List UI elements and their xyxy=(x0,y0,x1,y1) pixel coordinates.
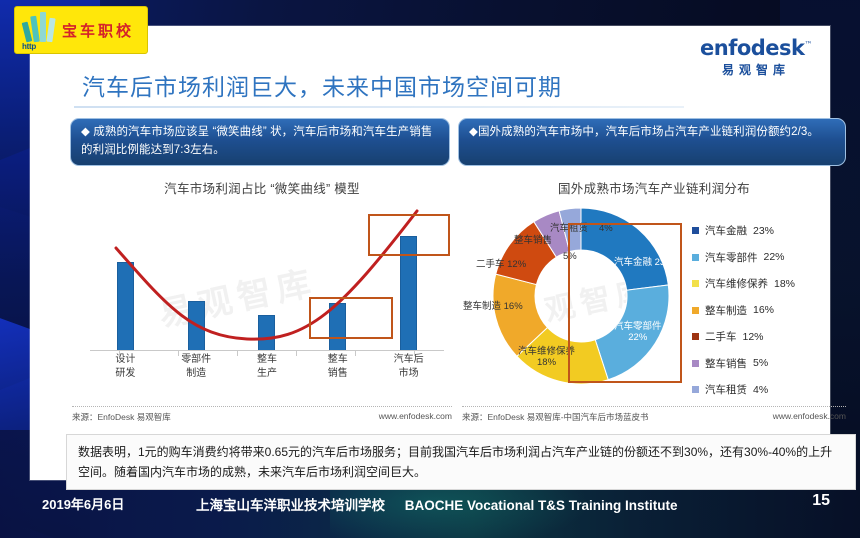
left-chart-title: 汽车市场利润占比 “微笑曲线” 模型 xyxy=(72,178,452,197)
card-accent-bar xyxy=(30,26,36,480)
right-chart-panel: 国外成熟市场汽车产业链利润分布 易观智库 汽车金融 23% 汽车零部件 22% … xyxy=(462,178,846,391)
footer-school-cn: 上海宝山车洋职业技术培训学校 xyxy=(196,498,385,513)
donut-highlight-box xyxy=(568,223,682,383)
legend-swatch-icon xyxy=(692,227,699,234)
callout-right: ◆国外成熟的汽车市场中，汽车后市场占汽车产业链利润份额约2/3。 xyxy=(458,118,846,166)
legend-value: 18% xyxy=(774,278,795,290)
smile-curve-bar-chart: 易观智库 设计研发零部件制造整车生产整车销售汽车后市场 xyxy=(72,201,452,387)
legend-value: 4% xyxy=(753,384,768,396)
bar-1 xyxy=(188,301,205,351)
footer-date: 2019年6月6日 xyxy=(42,494,124,513)
legend-label: 汽车零部件 xyxy=(705,250,758,265)
bar-label-0: 设计研发 xyxy=(97,353,153,380)
legend-swatch-icon xyxy=(692,333,699,340)
enfodesk-name: enfodesk xyxy=(700,36,805,60)
left-chart-source: 来源：EnfoDesk 易观智库 www.enfodesk.com xyxy=(72,406,452,423)
legend-item-2[interactable]: 汽车维修保养18% xyxy=(692,276,842,291)
right-chart-source: 来源：EnfoDesk 易观智库-中国汽车后市场蓝皮书 www.enfodesk… xyxy=(462,406,846,423)
school-logo-text: 宝车职校 xyxy=(62,20,134,41)
legend-swatch-icon xyxy=(692,360,699,367)
left-source-label: 来源：EnfoDesk 易观智库 xyxy=(72,411,171,423)
legend-item-6[interactable]: 汽车租赁4% xyxy=(692,382,842,397)
logo-url-text: http xyxy=(22,42,36,51)
slide-root: enfodesk™ 易观智库 汽车后市场利润巨大，未来中国市场空间可期 ◆ 成熟… xyxy=(0,0,860,538)
legend-item-0[interactable]: 汽车金融23% xyxy=(692,223,842,238)
legend-label: 汽车租赁 xyxy=(705,382,747,397)
footer-page-number: 15 xyxy=(812,492,830,510)
callout-left: ◆ 成熟的汽车市场应该呈 “微笑曲线” 状，汽车后市场和汽车生产销售的利润比例能… xyxy=(70,118,450,166)
left-source-url[interactable]: www.enfodesk.com xyxy=(379,411,452,423)
legend-swatch-icon xyxy=(692,254,699,261)
footer-school: 上海宝山车洋职业技术培训学校 BAOCHE Vocational T&S Tra… xyxy=(196,494,678,514)
donut-legend: 汽车金融23%汽车零部件22%汽车维修保养18%整车制造16%二手车12%整车销… xyxy=(692,223,842,409)
slice-label-vehicle-manufacturing: 整车制造 16% xyxy=(463,301,523,312)
legend-item-1[interactable]: 汽车零部件22% xyxy=(692,250,842,265)
legend-item-4[interactable]: 二手车12% xyxy=(692,329,842,344)
legend-swatch-icon xyxy=(692,280,699,287)
legend-swatch-icon xyxy=(692,386,699,393)
highlight-box-aftermarket xyxy=(368,214,450,256)
enfodesk-wordmark: enfodesk™ xyxy=(700,38,812,59)
slice-label-maintenance: 汽车维修保养 18% xyxy=(518,346,575,369)
slice-label-used-car: 二手车 12% xyxy=(476,259,526,270)
trademark-icon: ™ xyxy=(805,40,813,49)
bar-label-1: 零部件制造 xyxy=(168,353,224,380)
legend-value: 12% xyxy=(743,331,764,343)
legend-value: 16% xyxy=(753,304,774,316)
right-chart-title: 国外成熟市场汽车产业链利润分布 xyxy=(462,178,846,197)
legend-item-5[interactable]: 整车销售5% xyxy=(692,356,842,371)
legend-label: 汽车金融 xyxy=(705,223,747,238)
enfodesk-logo: enfodesk™ 易观智库 xyxy=(700,38,812,76)
bar-2 xyxy=(258,315,275,351)
legend-swatch-icon xyxy=(692,307,699,314)
legend-value: 5% xyxy=(753,357,768,369)
bar-label-3: 整车销售 xyxy=(310,353,366,380)
legend-item-3[interactable]: 整车制造16% xyxy=(692,303,842,318)
legend-label: 整车制造 xyxy=(705,303,747,318)
legend-label: 二手车 xyxy=(705,329,737,344)
legend-value: 22% xyxy=(764,251,785,263)
bar-category-labels: 设计研发零部件制造整车生产整车销售汽车后市场 xyxy=(90,353,444,387)
enfodesk-sub: 易观智库 xyxy=(700,64,812,76)
content-card: enfodesk™ 易观智库 汽车后市场利润巨大，未来中国市场空间可期 ◆ 成熟… xyxy=(30,26,830,480)
slide-footer: 2019年6月6日 上海宝山车洋职业技术培训学校 BAOCHE Vocation… xyxy=(0,482,860,538)
bar-label-4: 汽车后市场 xyxy=(381,353,437,380)
bar-0 xyxy=(117,262,134,351)
page-title: 汽车后市场利润巨大，未来中国市场空间可期 xyxy=(82,68,562,102)
highlight-box-sales xyxy=(309,297,393,339)
slice-label-vehicle-sales: 整车销售 xyxy=(514,235,552,246)
school-logo-badge: http 宝车职校 xyxy=(14,6,148,54)
profit-distribution-donut-chart: 易观智库 汽车金融 23% 汽车零部件 22% 汽车维修保养 18% 整车制造 … xyxy=(462,201,846,391)
title-divider xyxy=(74,106,684,108)
footer-school-en: BAOCHE Vocational T&S Training Institute xyxy=(405,498,678,513)
legend-value: 23% xyxy=(753,225,774,237)
legend-label: 汽车维修保养 xyxy=(705,276,768,291)
right-source-url[interactable]: www.enfodesk.com xyxy=(773,411,846,423)
school-logo-icon: http xyxy=(18,9,60,51)
legend-label: 整车销售 xyxy=(705,356,747,371)
left-chart-panel: 汽车市场利润占比 “微笑曲线” 模型 易观智库 设计研发零部件制造整车生产整车销… xyxy=(72,178,452,387)
bar-label-2: 整车生产 xyxy=(239,353,295,380)
right-source-label: 来源：EnfoDesk 易观智库-中国汽车后市场蓝皮书 xyxy=(462,411,649,423)
